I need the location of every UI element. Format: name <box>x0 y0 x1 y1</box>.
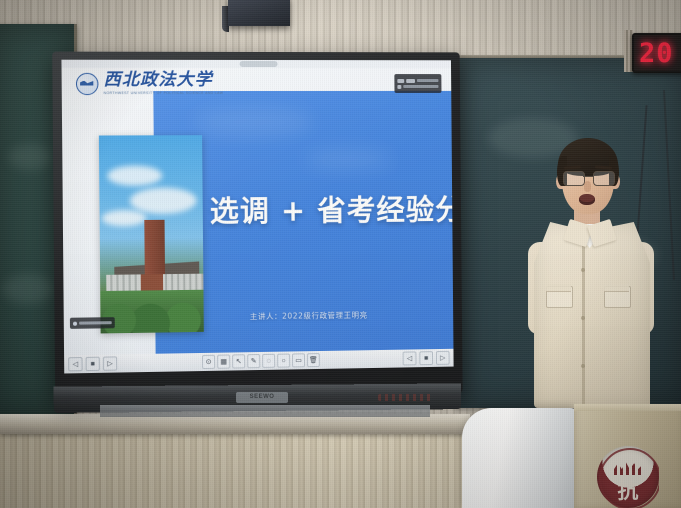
lectern-top-edge <box>574 404 681 411</box>
university-logo: 西北政法大学 NORTHWEST UNIVERSITY OF POLITICAL… <box>76 72 223 95</box>
prev-slide-button[interactable]: ◁ <box>68 357 82 371</box>
pointer-icon[interactable]: ↖ <box>232 354 245 368</box>
presenter <box>528 138 656 408</box>
display-top-pill <box>240 61 278 67</box>
settings-icon[interactable]: ⊙ <box>202 355 215 369</box>
university-name-en: NORTHWEST UNIVERSITY OF POLITICAL SCIENC… <box>104 91 224 95</box>
display-brand-label: SEEWO <box>236 392 288 403</box>
shirt-button-bottom <box>581 364 585 368</box>
pocket-flap-left <box>546 284 571 292</box>
toolbar-tools[interactable]: ⊙ ▦ ↖ ✎ ◌ ○ ▭ 🗑 <box>202 353 320 369</box>
pen-icon[interactable]: ✎ <box>247 354 260 368</box>
pocket-flap-right <box>604 284 629 292</box>
glasses-bridge <box>583 176 593 177</box>
ceiling-speaker <box>228 0 290 26</box>
emblem-character: 抗 <box>609 478 647 504</box>
chalk-ledge <box>0 414 470 434</box>
smart-display[interactable]: 西北政法大学 NORTHWEST UNIVERSITY OF POLITICAL… <box>52 52 462 401</box>
prev-page-button[interactable]: ◁ <box>403 351 417 365</box>
glasses-lens-left <box>563 171 585 186</box>
mouth-speaking <box>579 194 595 205</box>
led-clock-digits: 20 <box>639 38 674 69</box>
stop-button[interactable]: ■ <box>86 357 100 371</box>
slide-corner-badge[interactable] <box>70 317 115 329</box>
display-stand-rail <box>100 405 430 417</box>
led-clock: 20 <box>632 33 681 73</box>
frame-icon[interactable]: ▭ <box>292 353 305 367</box>
slide-subtitle: 主讲人：2022级行政管理王明亮 <box>250 309 368 322</box>
university-emblem: 抗 <box>597 446 659 508</box>
campus-photo <box>99 135 204 333</box>
display-screen[interactable]: 西北政法大学 NORTHWEST UNIVERSITY OF POLITICAL… <box>61 60 453 374</box>
next-slide-button[interactable]: ▷ <box>103 356 117 370</box>
university-seal-icon <box>76 72 99 94</box>
badge-dot-icon <box>73 321 77 325</box>
trash-icon[interactable]: 🗑 <box>307 353 320 367</box>
outer-shirt <box>534 222 650 408</box>
badge-label-bar <box>79 321 112 325</box>
grid-icon[interactable]: ▦ <box>217 355 230 369</box>
display-top-bar <box>61 60 451 68</box>
shirt-placket <box>582 236 585 408</box>
eraser-icon[interactable]: ◌ <box>262 354 275 368</box>
shirt-button-mid <box>581 316 585 320</box>
toolbar-nav-right[interactable]: ◁ ■ ▷ <box>403 351 450 366</box>
glasses-lens-right <box>593 171 615 186</box>
classroom-scene: 20 西北政法大学 NORTHWEST UNIVERSITY OF POLITI… <box>0 0 681 508</box>
display-indicator-strip <box>378 394 434 401</box>
slide-title: 选调 + 省考经验分享 <box>210 187 448 231</box>
shape-icon[interactable]: ○ <box>277 354 290 368</box>
next-page-button[interactable]: ▷ <box>436 351 450 365</box>
nose <box>584 181 591 192</box>
pause-button[interactable]: ■ <box>419 351 433 365</box>
podium-white-panel <box>462 408 578 508</box>
shirt-button-top <box>581 268 585 272</box>
toolbar-nav-left[interactable]: ◁ ■ ▷ <box>68 356 117 371</box>
slide-overlay-widget[interactable] <box>394 74 441 93</box>
university-name-cn: 西北政法大学 <box>103 72 223 89</box>
